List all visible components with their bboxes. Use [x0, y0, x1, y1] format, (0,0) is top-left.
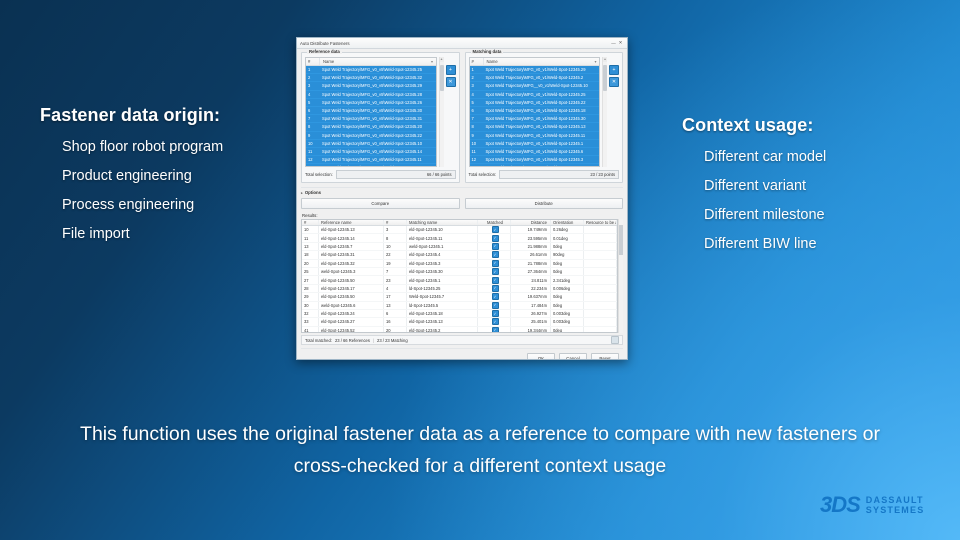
results-cell-index: 41 — [302, 327, 319, 333]
3ds-logo-icon: 3DS — [820, 494, 860, 516]
left-bullet-2: Product engineering — [62, 168, 223, 184]
reference-row-name: Spot Weld Trajectory\MFG_v0_v5\Weld-Spot… — [319, 116, 436, 121]
compare-button[interactable]: Compare — [301, 198, 460, 209]
matching-data-pane: Matching data # Name ▾ 1Spot Weld Trajec… — [465, 52, 624, 183]
matching-row-name: Spot Weld Trajectory\MFG_v0_v1\Weld-Spot… — [483, 133, 600, 138]
reference-row-name: Spot Weld Trajectory\MFG_v0_v5\Weld-Spot… — [319, 133, 436, 138]
results-cell-orientation: 0.01deg — [551, 234, 584, 241]
results-cell-orientation: 0.003deg — [551, 318, 584, 325]
results-section: Results: # Reference name # Matching nam… — [301, 213, 623, 345]
results-cell-index2: 6 — [384, 310, 407, 317]
reference-side-buttons: + ✕ — [446, 57, 456, 167]
results-cell-index: 20 — [302, 260, 319, 267]
results-cell-orientation: 0.26deg — [551, 226, 584, 233]
results-cell-reference-name: eld-Spot-12345.50 — [319, 293, 384, 300]
results-cell-index2: 20 — [384, 327, 407, 333]
logo-wordmark: DASSAULT SYSTEMES — [866, 495, 925, 515]
reference-row-index: 10 — [306, 141, 319, 146]
reference-legend: Reference data — [307, 49, 342, 54]
results-cell-reference-name: eld-Spot-12345.14 — [319, 234, 384, 241]
results-cell-orientation: 0.003deg — [551, 310, 584, 317]
checkbox-checked-icon[interactable]: ✓ — [492, 243, 499, 250]
reference-col-index: # — [306, 58, 320, 65]
results-cell-matched[interactable]: ✓ — [478, 318, 511, 325]
reference-list-wrap: # Name ▾ 1Spot Weld Trajectory\MFG_v0_v5… — [305, 57, 456, 167]
matching-scroll-thumb[interactable] — [603, 65, 607, 91]
list-item[interactable]: 6Spot Weld Trajectory\MFG_v0_v5\Weld-Spo… — [306, 107, 436, 115]
results-cell-orientation: 0deg — [551, 327, 584, 333]
results-cell-matching-name: eld-Spot-12345.3 — [407, 260, 478, 267]
fastener-data-origin-column: Fastener data origin: Shop floor robot p… — [40, 105, 223, 242]
distribute-button[interactable]: Distribute — [465, 198, 624, 209]
results-col-orientation[interactable]: Orientation — [551, 220, 584, 225]
list-item[interactable]: 8Spot Weld Trajectory\MFG_v0_v5\Weld-Spo… — [306, 123, 436, 131]
list-item[interactable]: 12Spot Weld Trajectory\MFG_v0_v5\Weld-Sp… — [306, 156, 436, 164]
matching-row-index: 5 — [470, 100, 483, 105]
list-item[interactable]: 2Spot Weld Trajectory\MFG_v0_v5\Weld-Spo… — [306, 74, 436, 82]
results-cell-distance: 21.788mm — [511, 260, 551, 267]
reference-group: Reference data # Name ▾ 1Spot Weld Traje… — [301, 52, 460, 183]
reference-add-button[interactable]: + — [446, 65, 456, 75]
status-separator: | — [373, 338, 374, 343]
reference-row-name: Spot Weld Trajectory\MFG_v0_v5\Weld-Spot… — [319, 149, 436, 154]
reference-row-index: 12 — [306, 157, 319, 162]
checkbox-checked-icon[interactable]: ✓ — [492, 277, 499, 284]
reference-row-index: 6 — [306, 108, 319, 113]
status-references: 23 / 66 References — [335, 338, 370, 343]
reference-scrollbar[interactable]: ▲ — [439, 57, 444, 167]
results-cell-index2: 13 — [384, 302, 407, 309]
results-cell-reference-name: eld-Spot-12345.13 — [319, 226, 384, 233]
reference-scroll-up-icon[interactable]: ▲ — [440, 57, 444, 62]
reference-scroll-thumb[interactable] — [440, 65, 444, 91]
minimize-icon[interactable]: — — [610, 41, 617, 46]
results-cell-reference-name: weld-Spot-12345.6 — [319, 302, 384, 309]
results-cell-orientation: 0deg — [551, 293, 584, 300]
matching-group: Matching data # Name ▾ 1Spot Weld Trajec… — [465, 52, 624, 183]
results-cell-orientation: 0deg — [551, 243, 584, 250]
results-cell-distance: 19.344mm — [511, 327, 551, 333]
results-cell-matched[interactable]: ✓ — [478, 234, 511, 241]
list-item[interactable]: 7Spot Weld Trajectory\MFG_v0_v1\Weld-Spo… — [470, 115, 600, 123]
results-col-resource[interactable]: Resource to be assigned — [584, 220, 617, 225]
results-cell-reference-name: eld-Spot-12345.7 — [319, 243, 384, 250]
list-item[interactable]: 9Spot Weld Trajectory\MFG_v0_v1\Weld-Spo… — [470, 132, 600, 140]
list-item[interactable]: 10Spot Weld Trajectory\MFG_v0_v5\Weld-Sp… — [306, 140, 436, 148]
matching-col-name: Name — [484, 59, 593, 64]
matching-remove-button[interactable]: ✕ — [609, 77, 619, 87]
right-bullet-4: Different BIW line — [704, 236, 826, 252]
results-cell-orientation: 2.341deg — [551, 276, 584, 283]
ok-button[interactable]: OK — [527, 353, 555, 360]
reference-row-name: Spot Weld Trajectory\MFG_v0_v5\Weld-Spot… — [319, 124, 436, 129]
reference-row-index: 8 — [306, 124, 319, 129]
reference-col-name: Name — [320, 59, 429, 64]
reference-remove-button[interactable]: ✕ — [446, 77, 456, 87]
results-cell-orientation: 90deg — [551, 251, 584, 258]
dialog-title: Auto Distribute Fasteners — [300, 41, 610, 46]
reference-row-name: Spot Weld Trajectory\MFG_v0_v5\Weld-Spot… — [319, 83, 436, 88]
results-cell-index: 27 — [302, 276, 319, 283]
reference-row-index: 13 — [306, 165, 319, 167]
checkbox-checked-icon[interactable]: ✓ — [492, 327, 499, 333]
matching-list-wrap: # Name ▾ 1Spot Weld Trajectory\MFG_v0_v1… — [469, 57, 620, 167]
table-row[interactable]: 18eld-Spot-12345.3122eld-Spot-12345.4✓26… — [302, 251, 617, 259]
results-cell-reference-name: eld-Spot-12345.32 — [319, 260, 384, 267]
list-item[interactable]: 13Spot Weld Trajectory\MFG_v0_v1\Weld-Sp… — [470, 164, 600, 167]
results-cell-distance: 19.749mm — [511, 226, 551, 233]
close-icon[interactable]: ✕ — [617, 40, 624, 46]
results-cell-index: 30 — [302, 302, 319, 309]
results-cell-distance: 25.401m — [511, 318, 551, 325]
results-cell-matched[interactable]: ✓ — [478, 285, 511, 292]
results-cell-resource — [584, 318, 617, 325]
results-cell-index: 29 — [302, 293, 319, 300]
results-cell-distance: 26.927m — [511, 310, 551, 317]
results-cell-resource — [584, 302, 617, 309]
checkbox-checked-icon[interactable]: ✓ — [492, 251, 499, 258]
results-cell-reference-name: eld-Spot-12345.31 — [319, 251, 384, 258]
results-cell-reference-name: eld-Spot-12345.24 — [319, 310, 384, 317]
results-cell-resource — [584, 285, 617, 292]
matching-sort-icon[interactable]: ▾ — [592, 59, 599, 64]
results-cell-index2: 16 — [384, 318, 407, 325]
list-item[interactable]: 6Spot Weld Trajectory\MFG_v0_v1\Weld-Spo… — [470, 107, 600, 115]
chevron-right-icon: ▸ — [301, 191, 303, 195]
list-item[interactable]: 9Spot Weld Trajectory\MFG_v0_v5\Weld-Spo… — [306, 132, 436, 140]
checkbox-checked-icon[interactable]: ✓ — [492, 226, 499, 233]
reference-listbox[interactable]: # Name ▾ 1Spot Weld Trajectory\MFG_v0_v5… — [305, 57, 437, 167]
matching-row-name: Spot Weld Trajectory\MFG_v0_v1\Weld-Spot… — [483, 165, 600, 167]
list-item[interactable]: 2Spot Weld Trajectory\MFG_v0_v1\Weld-Spo… — [470, 74, 600, 82]
results-cell-matching-name: eld-Spot-12345.4 — [407, 251, 478, 258]
matching-list-header: # Name ▾ — [470, 58, 600, 66]
checkbox-checked-icon[interactable]: ✓ — [492, 318, 499, 325]
results-cell-index2: 22 — [384, 251, 407, 258]
checkbox-checked-icon[interactable]: ✓ — [492, 302, 499, 309]
matching-row-name: Spot Weld Trajectory\MFG_v0_v1\Weld-Spot… — [483, 141, 600, 146]
results-cell-matched[interactable]: ✓ — [478, 310, 511, 317]
left-bullet-1: Shop floor robot program — [62, 139, 223, 155]
right-column-heading: Context usage: — [682, 115, 826, 136]
results-cell-reference-name: eld-Spot-12345.52 — [319, 327, 384, 333]
table-row[interactable]: 33eld-Spot-12345.2716eld-Spot-12345.13✓2… — [302, 318, 617, 326]
results-col-distance[interactable]: Distance — [511, 220, 551, 225]
matching-total-label: Total selection: — [469, 172, 497, 177]
results-cell-resource — [584, 260, 617, 267]
table-row[interactable]: 13eld-Spot-12345.710weld-Spot-12345.1✓21… — [302, 243, 617, 251]
matching-row-name: Spot Weld Trajectory\MFG_v0_v1\Weld-Spot… — [483, 92, 600, 97]
context-usage-column: Context usage: Different car model Diffe… — [682, 115, 826, 252]
reference-row-index: 1 — [306, 67, 319, 72]
matching-listbox[interactable]: # Name ▾ 1Spot Weld Trajectory\MFG_v0_v1… — [469, 57, 601, 167]
results-col-matching-name[interactable]: Matching name — [407, 220, 478, 225]
reference-row-index: 4 — [306, 92, 319, 97]
results-cell-reference-name: eld-Spot-12345.50 — [319, 276, 384, 283]
dialog-footer: OK Cancel Reset — [301, 348, 623, 360]
results-cell-matched[interactable]: ✓ — [478, 302, 511, 309]
results-cell-index: 18 — [302, 251, 319, 258]
options-section-toggle[interactable]: ▸ Options — [301, 187, 623, 195]
list-item[interactable]: 5Spot Weld Trajectory\MFG_v0_v5\Weld-Spo… — [306, 99, 436, 107]
dassault-systemes-logo: 3DS DASSAULT SYSTEMES — [820, 494, 924, 516]
table-row[interactable]: 20eld-Spot-12345.3219eld-Spot-12345.3✓21… — [302, 260, 617, 268]
matching-side-buttons: + ✕ — [609, 57, 619, 167]
reference-row-name: Spot Weld Trajectory\MFG_v0_v5\Weld-Spot… — [319, 100, 436, 105]
matching-scrollbar[interactable]: ▲ — [602, 57, 607, 167]
results-cell-index: 28 — [302, 285, 319, 292]
results-cell-resource — [584, 310, 617, 317]
results-cell-orientation: 0deg — [551, 268, 584, 275]
matching-row-name: Spot Weld Trajectory\MFG_v0_v1\Weld-Spot… — [483, 75, 600, 80]
reset-button[interactable]: Reset — [591, 353, 619, 360]
results-cell-matching-name: weld-Spot-12345.1 — [407, 243, 478, 250]
matching-row-index: 2 — [470, 75, 483, 80]
results-cell-orientation: 0deg — [551, 302, 584, 309]
matching-total-row: Total selection: 23 / 23 points — [469, 170, 620, 179]
reference-row-name: Spot Weld Trajectory\MFG_v0_v5\Weld-Spot… — [319, 75, 436, 80]
table-row[interactable]: 27eld-Spot-12345.5023eld-Spot-12345.1✓24… — [302, 276, 617, 284]
list-item[interactable]: 1Spot Weld Trajectory\MFG_v0_v1\Weld-Spo… — [470, 66, 600, 74]
matching-row-index: 11 — [470, 149, 483, 154]
export-icon[interactable] — [611, 336, 619, 344]
table-row[interactable]: 25weld-Spot-12345.37eld-Spot-12345.30✓27… — [302, 268, 617, 276]
results-cell-distance: 22.234m — [511, 285, 551, 292]
results-col-index2[interactable]: # — [384, 220, 407, 225]
list-item[interactable]: 4Spot Weld Trajectory\MFG_v0_v5\Weld-Spo… — [306, 91, 436, 99]
results-cell-distance: 21.988mm — [511, 243, 551, 250]
results-cell-orientation: 0deg — [551, 260, 584, 267]
list-item[interactable]: 8Spot Weld Trajectory\MFG_v0_v1\Weld-Spo… — [470, 123, 600, 131]
results-cell-matched[interactable]: ✓ — [478, 268, 511, 275]
results-cell-distance: 26.61mm — [511, 251, 551, 258]
reference-row-index: 7 — [306, 116, 319, 121]
slide-caption: This function uses the original fastener… — [80, 418, 880, 482]
reference-row-name: Spot Weld Trajectory\MFG_v0_v5\Weld-Spot… — [319, 165, 436, 167]
table-row[interactable]: 32eld-Spot-12345.246eld-Spot-12345.18✓26… — [302, 310, 617, 318]
dialog-titlebar[interactable]: Auto Distribute Fasteners — ✕ — [297, 38, 627, 49]
results-cell-distance: 19.637mm — [511, 293, 551, 300]
matching-row-index: 9 — [470, 133, 483, 138]
results-cell-resource — [584, 276, 617, 283]
matching-row-index: 10 — [470, 141, 483, 146]
results-cell-index2: 4 — [384, 285, 407, 292]
results-cell-index: 13 — [302, 243, 319, 250]
results-cell-resource — [584, 234, 617, 241]
reference-data-pane: Reference data # Name ▾ 1Spot Weld Traje… — [301, 52, 460, 183]
reference-row-index: 3 — [306, 83, 319, 88]
results-cell-index: 11 — [302, 234, 319, 241]
reference-row-name: Spot Weld Trajectory\MFG_v0_v5\Weld-Spot… — [319, 157, 436, 162]
results-cell-distance: 27.364mm — [511, 268, 551, 275]
checkbox-checked-icon[interactable]: ✓ — [492, 260, 499, 267]
list-item[interactable]: 7Spot Weld Trajectory\MFG_v0_v5\Weld-Spo… — [306, 115, 436, 123]
left-bullet-4: File import — [62, 226, 223, 242]
right-bullet-2: Different variant — [704, 178, 826, 194]
results-cell-resource — [584, 243, 617, 250]
results-col-index[interactable]: # — [302, 220, 319, 225]
logo-line-1: DASSAULT — [866, 495, 925, 505]
data-panes: Reference data # Name ▾ 1Spot Weld Traje… — [301, 52, 623, 183]
matching-row-name: Spot Weld Trajectory\MFG_v0_v1\Weld-Spot… — [483, 149, 600, 154]
results-cell-index2: 10 — [384, 243, 407, 250]
reference-row-name: Spot Weld Trajectory\MFG_v0_v5\Weld-Spot… — [319, 108, 436, 113]
checkbox-checked-icon[interactable]: ✓ — [492, 285, 499, 292]
results-cell-index2: 23 — [384, 276, 407, 283]
table-row[interactable]: 29eld-Spot-12345.5017Weld-Spot-12345.7✓1… — [302, 293, 617, 301]
results-cell-resource — [584, 251, 617, 258]
results-cell-index2: 3 — [384, 226, 407, 233]
results-status-bar: Total matched: 23 / 66 References | 23 /… — [301, 335, 623, 345]
list-item[interactable]: 10Spot Weld Trajectory\MFG_v0_v1\Weld-Sp… — [470, 140, 600, 148]
matching-total-value: 23 / 23 points — [499, 170, 619, 179]
results-cell-index2: 19 — [384, 260, 407, 267]
results-cell-resource — [584, 327, 617, 333]
reference-row-index: 9 — [306, 133, 319, 138]
matching-row-name: Spot Weld Trajectory\MFG_v0_v1\Weld-Spot… — [483, 67, 600, 72]
results-col-reference-name[interactable]: Reference name — [319, 220, 384, 225]
results-cell-orientation: 0.006deg — [551, 285, 584, 292]
results-scroll-thumb[interactable] — [619, 225, 623, 255]
results-table[interactable]: # Reference name # Matching name Matched… — [301, 219, 618, 333]
matching-row-index: 3 — [470, 83, 483, 88]
results-cell-matching-name: eld-Spot-12345.18 — [407, 310, 478, 317]
results-cell-matching-name: eld-Spot-12345.10 — [407, 226, 478, 233]
left-bullet-3: Process engineering — [62, 197, 223, 213]
list-item[interactable]: 3Spot Weld Trajectory\MFG_v0_v5\Weld-Spo… — [306, 82, 436, 90]
right-bullet-1: Different car model — [704, 149, 826, 165]
results-cell-matched[interactable]: ✓ — [478, 327, 511, 333]
reference-total-value: 66 / 66 points — [336, 170, 456, 179]
matching-row-name: Spot Weld Trajectory\MFG_v0_v1\Weld-Spot… — [483, 124, 600, 129]
auto-distribute-fasteners-dialog: Auto Distribute Fasteners — ✕ Reference … — [296, 37, 628, 360]
results-scrollbar[interactable] — [618, 219, 623, 333]
results-cell-reference-name: eld-Spot-12345.27 — [319, 318, 384, 325]
matching-legend: Matching data — [471, 49, 504, 54]
results-cell-matching-name: eld-Spot-12345.2 — [407, 327, 478, 333]
matching-row-name: Spot Weld Trajectory\MFG_v0_v1\Weld-Spot… — [483, 157, 600, 162]
results-cell-reference-name: weld-Spot-12345.3 — [319, 268, 384, 275]
checkbox-checked-icon[interactable]: ✓ — [492, 293, 499, 300]
results-cell-distance: 24.811m — [511, 276, 551, 283]
results-cell-matching-name: eld-Spot-12345.11 — [407, 234, 478, 241]
results-cell-index2: 7 — [384, 268, 407, 275]
reference-sort-icon[interactable]: ▾ — [429, 59, 436, 64]
dialog-body: Reference data # Name ▾ 1Spot Weld Traje… — [297, 49, 627, 360]
matching-row-index: 6 — [470, 108, 483, 113]
matching-row-name: Spot Weld Trajectory\MFG_v0_v1\Weld-Spot… — [483, 100, 600, 105]
results-cell-index2: 17 — [384, 293, 407, 300]
results-cell-matching-name: Weld-Spot-12345.7 — [407, 293, 478, 300]
results-cell-matched[interactable]: ✓ — [478, 243, 511, 250]
results-cell-matching-name: ld-Spot-12345.25 — [407, 285, 478, 292]
results-cell-matched[interactable]: ✓ — [478, 276, 511, 283]
matching-col-index: # — [470, 58, 484, 65]
matching-row-name: Spot Weld Trajectory\MFG__v0_v1\Weld-Spo… — [483, 83, 600, 88]
results-cell-distance: 23.595mm — [511, 234, 551, 241]
matching-row-index: 4 — [470, 92, 483, 97]
matching-row-index: 12 — [470, 157, 483, 162]
checkbox-checked-icon[interactable]: ✓ — [492, 235, 499, 242]
matching-row-index: 8 — [470, 124, 483, 129]
reference-total-row: Total selection: 66 / 66 points — [305, 170, 456, 179]
results-cell-index: 25 — [302, 268, 319, 275]
results-cell-matched[interactable]: ✓ — [478, 226, 511, 233]
table-row[interactable]: 41eld-Spot-12345.5220eld-Spot-12345.2✓19… — [302, 327, 617, 333]
matching-row-name: Spot Weld Trajectory\MFG_v0_v1\Weld-Spot… — [483, 116, 600, 121]
results-cell-matching-name: eld-Spot-12345.1 — [407, 276, 478, 283]
list-item[interactable]: 3Spot Weld Trajectory\MFG__v0_v1\Weld-Sp… — [470, 82, 600, 90]
results-cell-index: 10 — [302, 226, 319, 233]
right-bullet-3: Different milestone — [704, 207, 826, 223]
reference-row-name: Spot Weld Trajectory\MFG_v0_v5\Weld-Spot… — [319, 92, 436, 97]
checkbox-checked-icon[interactable]: ✓ — [492, 310, 499, 317]
matching-row-name: Spot Weld Trajectory\MFG_v0_v1\Weld-Spot… — [483, 108, 600, 113]
results-cell-distance: 17.484m — [511, 302, 551, 309]
reference-row-name: Spot Weld Trajectory\MFG_v0_v5\Weld-Spot… — [319, 141, 436, 146]
results-cell-matched[interactable]: ✓ — [478, 293, 511, 300]
options-label: Options — [305, 190, 321, 195]
list-item[interactable]: 5Spot Weld Trajectory\MFG_v0_v1\Weld-Spo… — [470, 99, 600, 107]
results-cell-index: 33 — [302, 318, 319, 325]
results-col-matched[interactable]: Matched — [478, 220, 511, 225]
results-cell-matched[interactable]: ✓ — [478, 260, 511, 267]
results-cell-index2: 8 — [384, 234, 407, 241]
reference-total-label: Total selection: — [305, 172, 333, 177]
table-row[interactable]: 10eld-Spot-12345.133eld-Spot-12345.10✓19… — [302, 226, 617, 234]
results-rows: 10eld-Spot-12345.133eld-Spot-12345.10✓19… — [302, 226, 617, 333]
matching-row-index: 1 — [470, 67, 483, 72]
status-matching: 23 / 23 Matching — [377, 338, 408, 343]
reference-row-index: 5 — [306, 100, 319, 105]
table-row[interactable]: 30weld-Spot-12345.613ld-Spot-12345.5✓17.… — [302, 302, 617, 310]
matching-row-index: 13 — [470, 165, 483, 167]
results-cell-matching-name: ld-Spot-12345.5 — [407, 302, 478, 309]
matching-row-index: 7 — [470, 116, 483, 121]
results-cell-index: 32 — [302, 310, 319, 317]
slide-canvas: Fastener data origin: Shop floor robot p… — [0, 0, 960, 540]
matching-scroll-up-icon[interactable]: ▲ — [603, 57, 607, 62]
logo-line-2: SYSTEMES — [866, 505, 925, 515]
list-item[interactable]: 13Spot Weld Trajectory\MFG_v0_v5\Weld-Sp… — [306, 164, 436, 167]
table-row[interactable]: 28eld-Spot-12345.174ld-Spot-12345.25✓22.… — [302, 285, 617, 293]
results-cell-matched[interactable]: ✓ — [478, 251, 511, 258]
list-item[interactable]: 11Spot Weld Trajectory\MFG_v0_v1\Weld-Sp… — [470, 148, 600, 156]
action-buttons-row: Compare Distribute — [301, 198, 623, 209]
results-cell-matching-name: eld-Spot-12345.30 — [407, 268, 478, 275]
list-item[interactable]: 1Spot Weld Trajectory\MFG_v0_v5\Weld-Spo… — [306, 66, 436, 74]
reference-rows: 1Spot Weld Trajectory\MFG_v0_v5\Weld-Spo… — [306, 66, 436, 167]
reference-row-index: 2 — [306, 75, 319, 80]
status-label: Total matched: — [305, 338, 332, 343]
results-cell-resource — [584, 293, 617, 300]
reference-list-header: # Name ▾ — [306, 58, 436, 66]
cancel-button[interactable]: Cancel — [559, 353, 587, 360]
table-row[interactable]: 11eld-Spot-12345.148eld-Spot-12345.11✓23… — [302, 234, 617, 242]
checkbox-checked-icon[interactable]: ✓ — [492, 268, 499, 275]
results-cell-resource — [584, 268, 617, 275]
results-cell-resource — [584, 226, 617, 233]
reference-row-index: 11 — [306, 149, 319, 154]
results-cell-reference-name: eld-Spot-12345.17 — [319, 285, 384, 292]
matching-add-button[interactable]: + — [609, 65, 619, 75]
results-cell-matching-name: eld-Spot-12345.13 — [407, 318, 478, 325]
left-column-heading: Fastener data origin: — [40, 105, 223, 126]
list-item[interactable]: 12Spot Weld Trajectory\MFG_v0_v1\Weld-Sp… — [470, 156, 600, 164]
list-item[interactable]: 4Spot Weld Trajectory\MFG_v0_v1\Weld-Spo… — [470, 91, 600, 99]
list-item[interactable]: 11Spot Weld Trajectory\MFG_v0_v5\Weld-Sp… — [306, 148, 436, 156]
reference-row-name: Spot Weld Trajectory\MFG_v0_v5\Weld-Spot… — [319, 67, 436, 72]
